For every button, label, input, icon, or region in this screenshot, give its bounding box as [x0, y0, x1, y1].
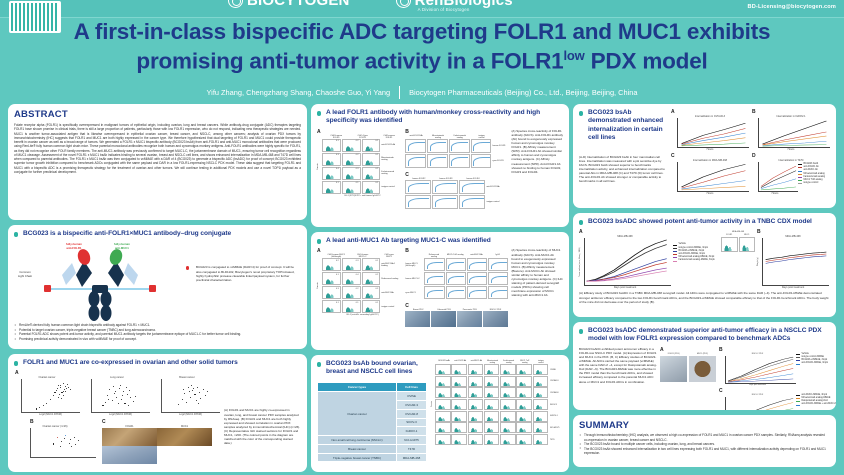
bsab-bullet-list: RenLite®-derived fully human common ligh… — [14, 323, 301, 341]
internalization-caption: (A-D) Internalization of BCG023 bsAb in … — [579, 155, 667, 184]
grid-row-head-6: NCI-H1975 — [549, 427, 563, 429]
spr-curve — [427, 154, 448, 168]
contact-email[interactable]: BD-Licensing@biocytogen.com — [748, 4, 836, 10]
spr-curve — [405, 154, 426, 168]
internalization-title-l1: BCG023 bsAb demonstrated enhanced — [588, 109, 663, 124]
pdx-tumor-volume-chart-c — [725, 397, 796, 410]
internalization-chart-ovcar3 — [677, 118, 749, 148]
ihc-image-colorectal-pdx — [431, 311, 456, 327]
flow-histogram: 0.1 — [342, 181, 361, 194]
flow-histogram-inset-muc1 — [739, 237, 756, 252]
flow-histogram — [533, 399, 549, 410]
flow-histogram: 0.1 — [322, 181, 341, 194]
ihc-image-nsclc-pdx — [483, 311, 508, 327]
scatter-xlabel-ovarian: Log2 (MUC1 FPKM) — [21, 413, 80, 416]
spr-curve — [488, 286, 508, 299]
scatter-plot-ovarian — [21, 379, 80, 413]
card-title-folr1-ab: A lead FOLR1 antibody with human/monkey … — [317, 109, 563, 126]
pdx-tumor-volume-chart-b — [725, 356, 796, 384]
grid-row-head-2: OVCAR-3 — [549, 380, 563, 382]
internalization-chart-mdamb468 — [677, 162, 749, 192]
scatter-row: Ovarian cancer — [14, 376, 220, 416]
spr-curve — [467, 258, 487, 271]
muc1-ab-caption: (A) Species cross-reactivity of MUC1 ant… — [511, 248, 563, 297]
flow-histogram — [468, 364, 484, 375]
flow-histogram — [451, 399, 467, 410]
flow-histogram — [533, 387, 549, 398]
flow-histogram — [451, 376, 467, 387]
internalization-legend: BCG023 bsAb anti-FOLR1 Ab anti-MUC1 Ab M… — [798, 163, 830, 185]
scatter-xlabel-breast: Log2 (MUC1 FPKM) — [161, 413, 220, 416]
flow-histogram — [468, 411, 484, 422]
spr-curve-flat — [405, 195, 431, 209]
flow-histogram — [500, 387, 516, 398]
pdx-legend-c: anti-MUC1-MMAE, 3mpk Mirvetuximab analog… — [796, 388, 830, 410]
flow-histogram — [451, 387, 467, 398]
grid-row-head-3: OVCAR-8 — [549, 392, 563, 394]
column-middle: A lead FOLR1 antibody with human/monkey … — [311, 104, 569, 475]
spr-curve — [424, 272, 444, 285]
card-title-binding-l2: breast and NSCLC cell lines — [326, 368, 412, 375]
legend-item: Farletuzumab analog-MMAE, 3mpk — [673, 259, 719, 262]
summary-bullet-list: Through immunohistochemistry (IHC) analy… — [579, 433, 830, 456]
renbiologics-tagline: A Division of Biocytogen — [418, 7, 470, 12]
flow-histogram: 0.1 — [362, 153, 381, 166]
spr-curve — [471, 154, 492, 168]
flow-histogram — [451, 434, 467, 445]
card-title-internalization: BCG023 bsAb demonstrated enhanced intern… — [579, 109, 667, 143]
biocytogen-mark-icon — [228, 0, 243, 8]
table-cell-line: SKOV-3 — [397, 418, 427, 427]
internalization-chart-igrov1 — [758, 118, 830, 148]
flow-histogram — [468, 387, 484, 398]
ihc-image-pancreatic-pdx — [457, 311, 482, 327]
spr-curve — [449, 154, 470, 168]
column-right: BCG023 bsAb demonstrated enhanced intern… — [573, 104, 836, 472]
card-bsab-schematic: BCG023 is a bispecific anti-FOLR1×MUC1 a… — [8, 225, 307, 349]
flow-histogram — [500, 422, 516, 433]
flow-histogram: 0.1 — [322, 272, 341, 285]
renbiologics-logo: RenBiologics A Division of Biocytogen — [396, 0, 513, 9]
spr-curve — [405, 139, 426, 153]
table-cell-group-tnbc: Triple-negative breast cancer (TNBC) — [318, 453, 397, 462]
flow-row-head-2: Mirvetuximab analog — [380, 157, 402, 161]
table-header-cancer-types: Cancer types — [318, 382, 397, 391]
spr-curve-flat — [432, 195, 458, 209]
scatter-xlabel-lung: Log2 (MUC1 FPKM) — [91, 413, 150, 416]
card-title-bsab: BCG023 is a bispecific anti-FOLR1×MUC1 a… — [14, 230, 301, 238]
flow-histogram — [516, 399, 532, 410]
muc1-flow-row-head-3: anti-MUC1 Ab — [380, 292, 402, 294]
abstract-text: Folate receptor alpha (FOLR1) is specifi… — [14, 123, 301, 174]
table-header-cell-lines: Cell lines — [397, 382, 427, 391]
flow-histogram — [500, 434, 516, 445]
scatter-plot-breast — [161, 379, 220, 413]
flow-histogram — [484, 411, 500, 422]
flow-histogram — [451, 364, 467, 375]
spr-curve — [471, 139, 492, 153]
pdx-lead-text: BCG023 bsADC exhibited potent anti-tumor… — [579, 347, 657, 384]
grid-row-head-5: IGROV-1 — [549, 415, 563, 417]
cell-line-table: Cancer types Cell lines Ovarian cancer O… — [317, 382, 427, 463]
list-item: Promising preclinical activity demonstra… — [14, 337, 301, 342]
flow-histogram — [500, 411, 516, 422]
flow-histogram: 0.3 — [322, 286, 341, 299]
folr1-ab-caption: (A) Species cross-reactivity of FOLR1 an… — [511, 129, 563, 174]
flow-histogram — [533, 376, 549, 387]
cdx-legend: Vehicle isotype control-MMAE, 3mpk BCG02… — [673, 229, 719, 289]
label-common-light-chain: Common Light Chain — [18, 271, 32, 278]
scatter-plot-ovarian-ihc — [30, 428, 96, 458]
flow-histogram: 0.1 — [362, 139, 381, 152]
bsab-side-note: BCG023 is conjugated to vcMMAE (DAR=4) f… — [190, 265, 298, 281]
card-title-cdx: BCG023 bsADC showed potent anti-tumor ac… — [579, 218, 830, 226]
flow-histogram — [435, 434, 451, 445]
flow-histogram — [516, 434, 532, 445]
flow-histogram — [516, 364, 532, 375]
flow-histogram — [516, 411, 532, 422]
flow-histogram: 0.2 — [342, 286, 361, 299]
flow-row-head-1: anti-FOLR1 Ab — [380, 144, 402, 146]
grid-row-head-1: OVISE — [549, 369, 563, 371]
bullet-dot-icon — [186, 266, 189, 269]
page-title: A first-in-class bispecific ADC targetin… — [0, 20, 844, 74]
flow-histogram — [484, 399, 500, 410]
muc1-spr-row-head-3: cyno MUC1 — [405, 292, 423, 294]
spr-curve-flat — [459, 195, 485, 209]
spr-row-head-b2: cyno FOLR1 — [492, 160, 508, 162]
flow-histogram: 0.3 — [342, 258, 361, 271]
summary-heading: SUMMARY — [579, 420, 830, 431]
authors: Yifu Zhang, Chengzhang Shang, Chaoshe Gu… — [207, 88, 400, 97]
spr-curve — [467, 272, 487, 285]
internal-xlabel-1: Hours — [671, 148, 749, 151]
card-binding-cell-lines: BCG023 bsAb bound ovarian, breast and NS… — [311, 355, 569, 472]
flow-histogram — [500, 376, 516, 387]
ihc-image-muc1-1 — [157, 428, 212, 446]
muc1-flow-row-head-4: isotype control — [380, 306, 402, 308]
flow-histogram: 0.2 — [362, 272, 381, 285]
table-cell-line: OVCAR-3 — [397, 400, 427, 409]
poster-root: BIOCYTOGEN RenBiologics A Division of Bi… — [0, 0, 844, 475]
flow-histogram: 0.1 — [362, 300, 381, 313]
flow-histogram: 0.1 — [362, 258, 381, 271]
flow-row-head-3: Farletuzumab analog — [380, 171, 402, 175]
legend-item: isotype control — [798, 182, 830, 185]
spr-row-head-b1: human FOLR1 — [492, 145, 508, 147]
flow-histogram — [516, 376, 532, 387]
spr-curve — [449, 139, 470, 153]
spr-curve — [427, 139, 448, 153]
flow-histogram — [516, 387, 532, 398]
flow-histogram — [516, 422, 532, 433]
card-folr1-antibody: A lead FOLR1 antibody with human/monkey … — [311, 104, 569, 227]
table-cell-group-breast: Breast cancer — [318, 444, 397, 453]
spr-curve — [488, 272, 508, 285]
spr-curve — [488, 258, 508, 271]
flow-histogram — [468, 376, 484, 387]
flow-histogram — [533, 422, 549, 433]
flow-histogram: 0.3 — [322, 153, 341, 166]
internalization-chart-t47d — [758, 162, 798, 192]
flow-row-head-4: isotype control — [380, 186, 402, 188]
ihc-image-pdx-muc1 — [689, 356, 716, 382]
flow-histogram: 0.2 — [342, 139, 361, 152]
table-cell-group-nsclc: Non-small cell lung carcinoma (NSCLC) — [318, 436, 397, 445]
muc1-flow-row-head-1: anti-MUC1 Ab1 binding — [380, 263, 402, 267]
ihc-image-breast-pdx — [405, 311, 430, 327]
title-line-1: A first-in-class bispecific ADC targetin… — [0, 20, 844, 44]
brand-bar: BIOCYTOGEN RenBiologics A Division of Bi… — [0, 0, 844, 17]
table-cell-line: OVCAR-8 — [397, 409, 427, 418]
pdx-chart-b-xlabel: Days post treatment — [719, 384, 796, 387]
spr-curve-flat — [405, 180, 431, 194]
flow-histogram — [533, 411, 549, 422]
spr-curve — [424, 258, 444, 271]
muc1-flow-row-head-2: Referenced analog — [380, 278, 402, 280]
flow-axis-label: BL-1 (FITC)/FITC+ anti-human IgG-FITC — [317, 195, 402, 197]
flow-histogram — [451, 411, 467, 422]
spr-curve — [446, 286, 466, 299]
antibody-schematic: fully-human anti-FOLR1 fully-human anti-… — [14, 241, 186, 321]
internal-xlabel-3: Hours — [671, 192, 749, 195]
flow-histogram: 0.1 — [322, 300, 341, 313]
muc1-spr-row-head-2: human MUC1-C — [405, 278, 423, 280]
flow-histogram: 0.2 — [322, 258, 341, 271]
renbiologics-mark-icon — [396, 0, 411, 8]
flow-histogram: 0.3 — [342, 167, 361, 180]
table-cell-line: MDA-MB-468 — [397, 453, 427, 462]
legend-item: anti-FOLR1-MMAE + anti-MUC1-MMAE — [796, 403, 830, 406]
header-divider — [0, 17, 844, 18]
list-item: Through immunohistochemistry (IHC) analy… — [579, 433, 830, 442]
title-line-2: promising anti-tumor activity in a FOLR1… — [0, 44, 844, 74]
card-internalization: BCG023 bsAb demonstrated enhanced intern… — [573, 104, 836, 208]
flow-histogram: 0.4 — [322, 167, 341, 180]
spr-curve-flat — [459, 180, 485, 194]
coexpression-caption: (A) FOLR1 and MUC1 are highly co-express… — [224, 408, 301, 445]
flow-histogram: 0.4 — [342, 272, 361, 285]
muc1-flow-axis-label: BL-1 (anti-hFc secondary IgG-FITC) — [317, 314, 402, 316]
flow-histogram — [484, 434, 500, 445]
flow-histogram — [435, 399, 451, 410]
card-muc1-antibody: A lead anti-MUC1 Ab targeting MUC1-C was… — [311, 232, 569, 350]
table-row: Triple-negative breast cancer (TNBC) MDA… — [318, 453, 427, 462]
author-line: Yifu Zhang, Chengzhang Shang, Chaoshe Gu… — [0, 86, 844, 99]
scatter-plot-lung — [91, 379, 150, 413]
table-cell-line: T47D — [397, 444, 427, 453]
card-title-muc1-ab: A lead anti-MUC1 Ab targeting MUC1-C was… — [317, 237, 563, 245]
card-title-binding-l1: BCG023 bsAb bound ovarian, — [326, 360, 418, 367]
card-title-coexpression: FOLR1 and MUC1 are co-expressed in ovari… — [14, 359, 301, 367]
muc1-spr-row-head-1: human MUC1 (full-length) — [405, 263, 423, 267]
ihc-image-folr1-2 — [102, 446, 157, 464]
table-cell-group-ovarian: Ovarian cancer — [318, 392, 397, 436]
flow-histogram — [500, 399, 516, 410]
affiliation: Biocytogen Pharmaceuticals (Beijing) Co.… — [400, 88, 637, 97]
cdx-chart-b-xlabel: Days post treatment — [757, 286, 829, 289]
title-line-2-post: PDX model — [585, 49, 708, 74]
spr-curve — [446, 272, 466, 285]
flow-histogram — [435, 376, 451, 387]
table-cell-line: IGROV-1 — [397, 427, 427, 436]
cdx-caption: (A) Efficacy study of BCG023 bsADC in a … — [579, 291, 830, 303]
cdx-chart-a-xlabel: Days post treatment — [579, 286, 671, 289]
flow-histogram: 0.2 — [342, 153, 361, 166]
flow-histogram — [468, 399, 484, 410]
flow-histogram: 0.1 — [342, 300, 361, 313]
logo-group-container: BIOCYTOGEN RenBiologics A Division of Bi… — [228, 0, 513, 9]
spr-curve — [424, 286, 444, 299]
ihc-image-muc1-2 — [157, 446, 212, 464]
biocytogen-logo-text: BIOCYTOGEN — [247, 0, 350, 9]
title-superscript: low — [563, 48, 584, 63]
table-row: Breast cancer T47D — [318, 444, 427, 453]
card-nsclc-pdx: BCG023 bsADC demonstrated superior anti-… — [573, 322, 836, 410]
list-item: The BCG023 bsAb showed enhanced internal… — [579, 447, 830, 456]
flow-histogram: 0.3 — [362, 286, 381, 299]
pdx-legend-b: Vehicle isotype control-MMAE BCG023-vcMM… — [796, 347, 830, 387]
flow-histogram — [435, 422, 451, 433]
abstract-heading: ABSTRACT — [14, 109, 301, 120]
flow-histogram — [435, 411, 451, 422]
antibody-schematic-svg — [14, 241, 186, 325]
spr-row-head-c1: anti-FOLR1 Ab — [486, 186, 508, 188]
column-left: ABSTRACT Folate receptor alpha (FOLR1) i… — [8, 104, 307, 475]
flow-histogram — [468, 434, 484, 445]
ihc-image-pdx-folr1 — [660, 356, 687, 382]
flow-histogram — [484, 364, 500, 375]
flow-histogram — [468, 422, 484, 433]
legend-item: anti-FOLR1-MMAE, 3mpk — [796, 362, 830, 365]
table-header-row: Cancer types Cell lines — [318, 382, 427, 391]
spr-curve — [446, 258, 466, 271]
flow-histogram — [533, 434, 549, 445]
biocytogen-logo: BIOCYTOGEN — [228, 0, 350, 9]
card-summary: SUMMARY Through immunohistochemistry (IH… — [573, 415, 836, 467]
table-cell-line: NCI-H1975 — [397, 436, 427, 445]
ihc-image-folr1-1 — [102, 428, 157, 446]
card-title-binding: BCG023 bsAb bound ovarian, breast and NS… — [317, 360, 427, 377]
flow-histogram: 0.1 — [322, 139, 341, 152]
cdx-tumor-volume-chart — [584, 238, 671, 286]
table-row: Non-small cell lung carcinoma (NSCLC) NC… — [318, 436, 427, 445]
flow-histogram-inset-folr1 — [721, 237, 738, 252]
internalization-title-l2: internalization in certain cell lines — [588, 126, 663, 141]
label-anti-muc1: fully-human anti-MUC1 — [114, 243, 130, 250]
flow-histogram — [533, 364, 549, 375]
flow-histogram — [500, 364, 516, 375]
spr-row-head-c2: isotype control — [486, 201, 508, 203]
flow-histogram: 0.1 — [362, 181, 381, 194]
table-row: Ovarian cancer OVISE — [318, 392, 427, 401]
card-title-pdx: BCG023 bsADC demonstrated superior anti-… — [579, 327, 830, 344]
grid-row-head-7: T47D — [549, 439, 563, 441]
internal-xlabel-4: Hours — [752, 192, 798, 195]
label-anti-folr1: fully-human anti-FOLR1 — [66, 243, 82, 250]
spr-curve-flat — [432, 180, 458, 194]
flow-histogram: 0.2 — [362, 167, 381, 180]
card-tnbc-cdx: BCG023 bsADC showed potent anti-tumor ac… — [573, 213, 836, 317]
flow-histogram — [451, 422, 467, 433]
grid-row-head-4: SKOV-3 — [549, 404, 563, 406]
pdx-title-l2: low FOLR1 expression compared to benchma… — [624, 335, 791, 342]
cdx-body-weight-chart — [762, 238, 829, 286]
flow-histogram — [484, 376, 500, 387]
card-abstract: ABSTRACT Folate receptor alpha (FOLR1) i… — [8, 104, 307, 220]
flow-histogram — [484, 387, 500, 398]
flow-histogram — [435, 387, 451, 398]
internal-xlabel-2: Hours — [752, 148, 830, 151]
flow-histogram — [484, 422, 500, 433]
card-coexpression: FOLR1 and MUC1 are co-expressed in ovari… — [8, 354, 307, 472]
flow-histogram — [435, 364, 451, 375]
title-line-2-pre: promising anti-tumor activity in a FOLR1 — [136, 49, 563, 74]
table-cell-line: OVISE — [397, 392, 427, 401]
spr-curve — [467, 286, 487, 299]
